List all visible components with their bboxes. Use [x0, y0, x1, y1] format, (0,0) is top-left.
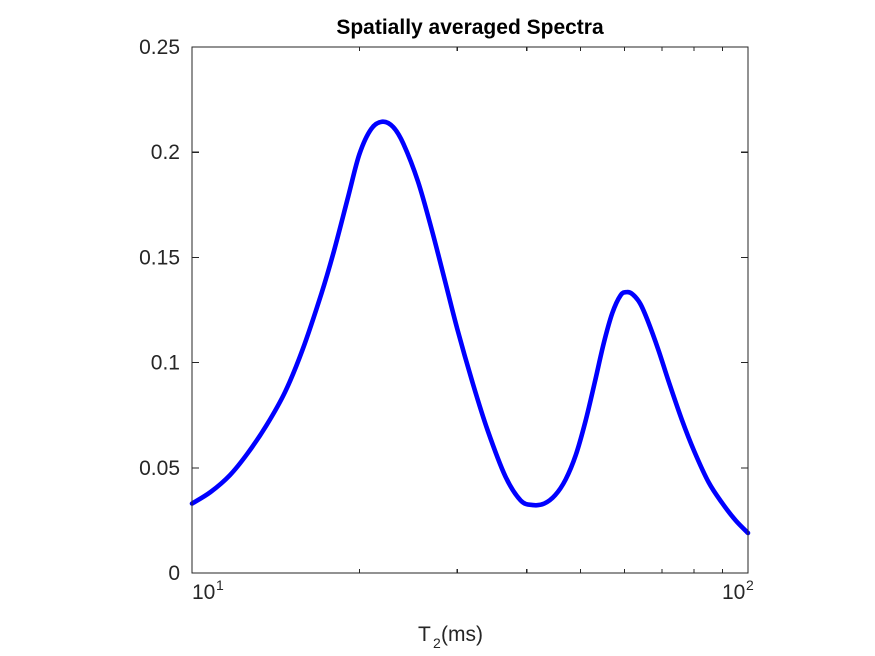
figure-canvas: 101102 00.050.10.150.20.25 Spatially ave… [0, 0, 875, 656]
x-tick-label-exponent: 1 [216, 577, 224, 593]
y-tick-label: 0.05 [139, 457, 180, 480]
x-axis-title-base: T [418, 623, 431, 646]
x-tick-label-mantissa: 10 [192, 581, 215, 604]
y-tick-label: 0 [168, 562, 180, 585]
y-tick-label: 0.25 [139, 36, 180, 59]
y-tick-label: 0.15 [139, 246, 180, 269]
plot-svg: 101102 00.050.10.150.20.25 Spatially ave… [0, 0, 875, 656]
y-tick-label: 0.2 [151, 141, 180, 164]
x-tick-label-exponent: 2 [746, 577, 754, 593]
x-tick-label-mantissa: 10 [722, 581, 745, 604]
x-axis-title-subscript: 2 [433, 635, 441, 651]
plot-title: Spatially averaged Spectra [336, 16, 604, 39]
figure-background [0, 0, 875, 656]
x-axis-title-unit: (ms) [441, 623, 483, 646]
y-tick-label: 0.1 [151, 352, 180, 375]
